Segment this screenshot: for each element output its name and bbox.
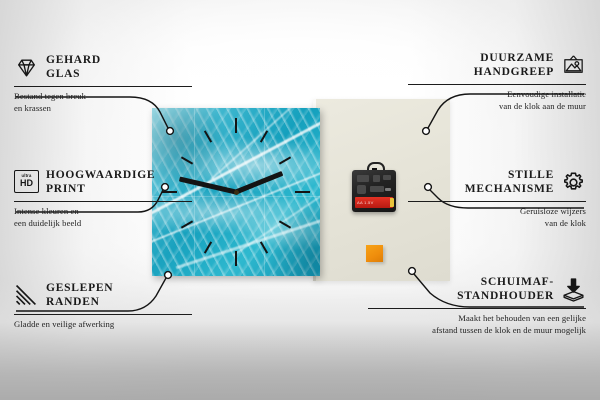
feature-desc-line2: afstand tussen de klok en de muur mogeli… xyxy=(432,325,586,335)
feature-title-line1: GESLEPEN xyxy=(46,282,113,294)
feature-schuimaf-standhouder[interactable]: SCHUIMAF- STANDHOUDER Maakt het behouden… xyxy=(368,272,586,336)
hour-tick xyxy=(235,251,237,266)
gear-icon xyxy=(561,170,586,195)
feature-title-line1: DUURZAME xyxy=(480,52,554,64)
feature-title-line2: HANDGREEP xyxy=(474,66,554,78)
feature-duurzame-handgreep[interactable]: DUURZAME HANDGREEP Eenvoudige installati… xyxy=(408,48,586,112)
feature-divider xyxy=(408,201,586,202)
feature-desc-line2: en krassen xyxy=(14,103,51,113)
feature-title-line2: GLAS xyxy=(46,68,80,80)
diagonal-lines-icon xyxy=(14,283,39,308)
picture-frame-icon xyxy=(561,53,586,78)
feature-title-line2: PRINT xyxy=(46,183,86,195)
infographic-canvas: AA 1.5V xyxy=(0,0,600,400)
feature-desc-line1: Eenvoudige installatie xyxy=(507,89,586,99)
down-arrow-pad-icon xyxy=(561,277,586,302)
battery-label: AA 1.5V xyxy=(357,200,374,205)
diamond-icon xyxy=(14,55,39,80)
ultra-hd-icon-main-text: HD xyxy=(20,179,33,188)
feature-geslepen-randen[interactable]: GESLEPEN RANDEN Gladde en veilige afwerk… xyxy=(14,278,192,331)
feature-title-line1: GEHARD xyxy=(46,54,101,66)
feature-desc-line2: van de klok aan de muur xyxy=(499,101,586,111)
feature-divider xyxy=(408,84,586,85)
battery-positive-cap xyxy=(390,198,394,207)
feature-divider xyxy=(14,86,192,87)
feature-hoogwaardige-print[interactable]: ultra HD HOOGWAARDIGE PRINT Intense kleu… xyxy=(14,165,192,229)
feature-title-line2: MECHANISME xyxy=(465,183,554,195)
feature-desc-line1: Maakt het behouden van een gelijke xyxy=(458,313,586,323)
feature-stille-mechanisme[interactable]: STILLE MECHANISME Geruisloze wijzers van… xyxy=(408,165,586,229)
feature-desc-line2: een duidelijk beeld xyxy=(14,218,81,228)
feature-divider xyxy=(14,201,192,202)
feature-divider xyxy=(368,308,586,309)
feature-title-line1: HOOGWAARDIGE xyxy=(46,169,155,181)
feature-title-line1: STILLE xyxy=(508,169,554,181)
feature-divider xyxy=(14,314,192,315)
feature-desc-line2: van de klok xyxy=(545,218,586,228)
ultra-hd-icon: ultra HD xyxy=(14,170,39,195)
foam-spacer-pad xyxy=(366,245,383,262)
feature-desc-line1: Bestand tegen breuk xyxy=(14,91,86,101)
feature-title-line2: STANDHOUDER xyxy=(457,290,554,302)
feature-title-line2: RANDEN xyxy=(46,296,100,308)
hour-tick xyxy=(295,191,310,193)
hour-tick xyxy=(235,118,237,133)
feature-desc-line1: Intense kleuren en xyxy=(14,206,79,216)
feature-gehard-glas[interactable]: GEHARD GLAS Bestand tegen breuk en krass… xyxy=(14,50,192,114)
feature-title-line1: SCHUIMAF- xyxy=(481,276,554,288)
clock-hub xyxy=(234,190,239,195)
feature-desc-line1: Geruisloze wijzers xyxy=(520,206,586,216)
feature-desc-line1: Gladde en veilige afwerking xyxy=(14,319,114,329)
